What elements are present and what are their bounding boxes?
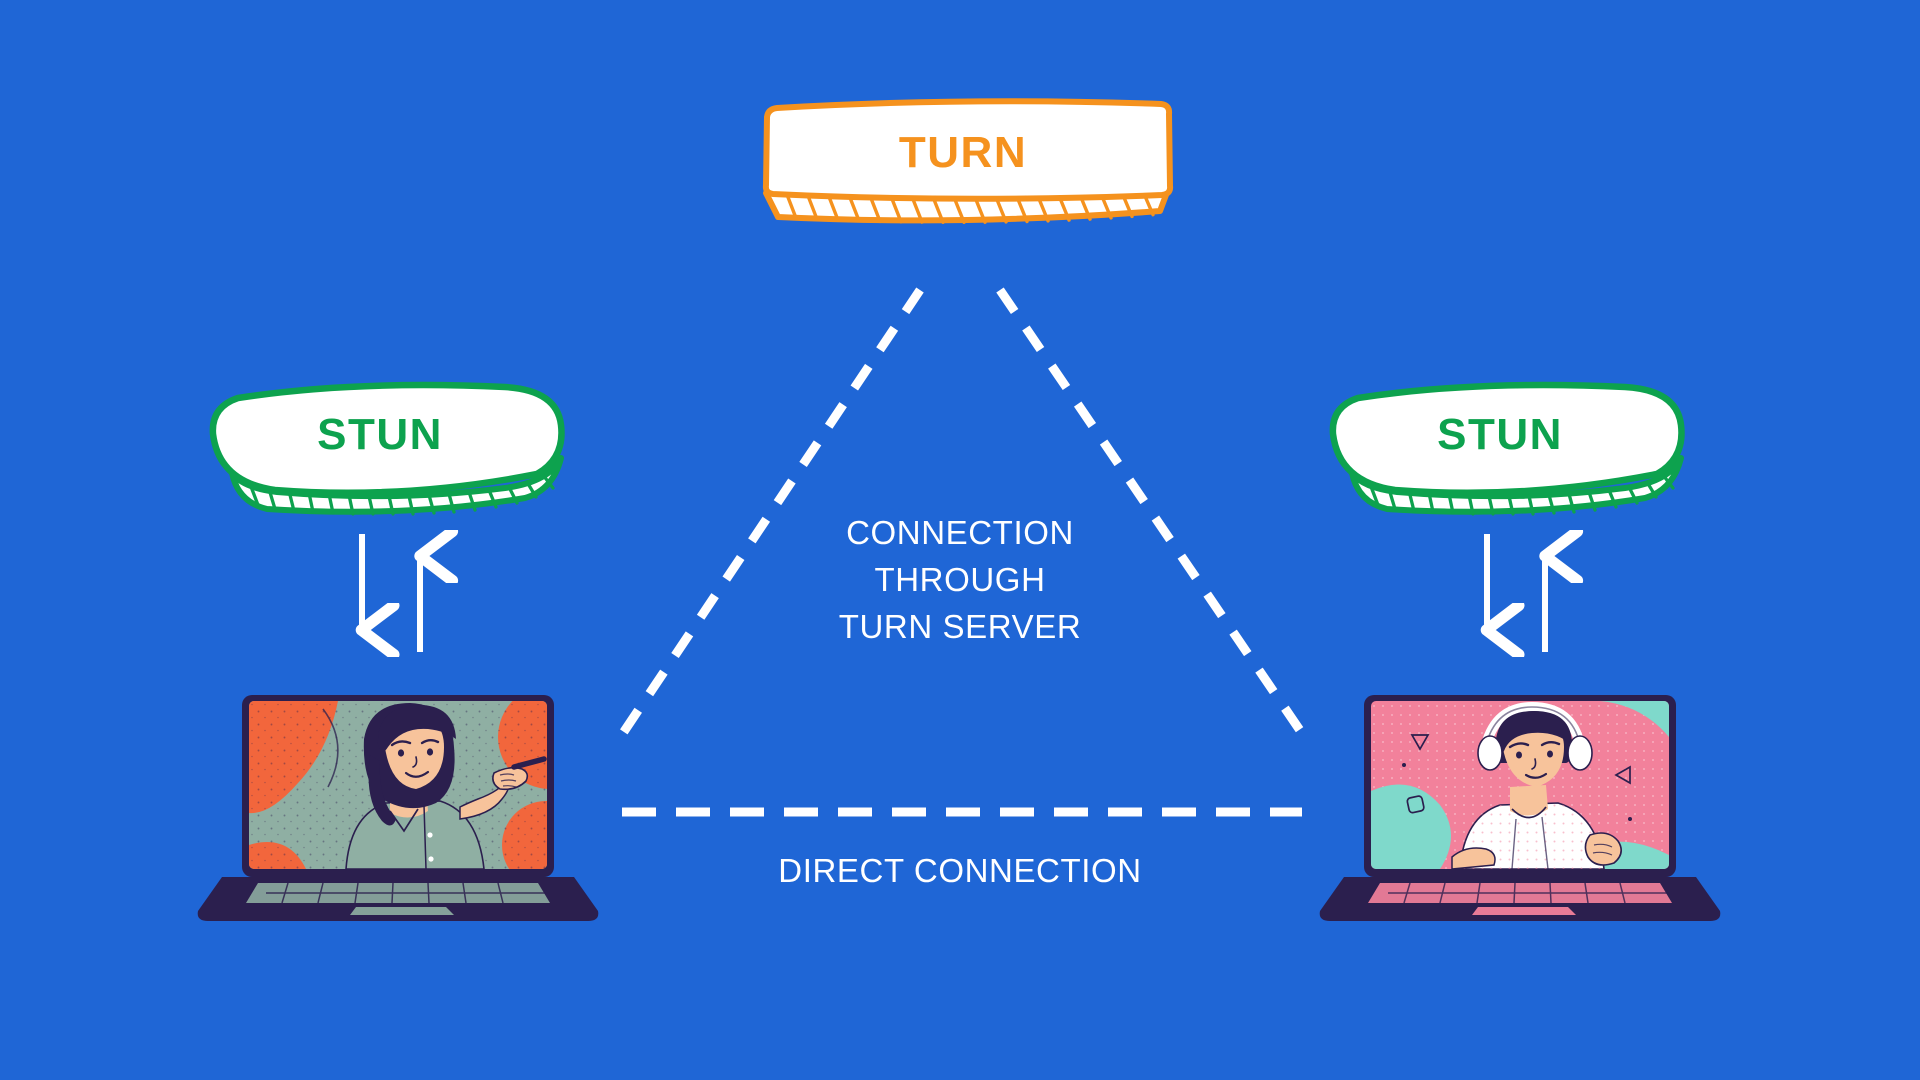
peer-right-laptop[interactable] <box>1300 695 1740 930</box>
left-laptop-illustration <box>178 695 618 930</box>
peer-left-laptop[interactable] <box>178 695 618 930</box>
diagram-canvas: TURN <box>0 0 1920 1080</box>
right-laptop-screen <box>1371 701 1669 869</box>
right-laptop-illustration <box>1300 695 1740 930</box>
node-turn[interactable]: TURN <box>748 95 1178 230</box>
arrows-right <box>1465 530 1585 660</box>
arrows-left <box>340 530 460 660</box>
turn-badge-label: TURN <box>748 128 1178 178</box>
direct-connection-label: DIRECT CONNECTION <box>680 852 1240 890</box>
node-stun-right[interactable]: STUN <box>1325 378 1715 518</box>
stun-left-badge-label: STUN <box>165 410 595 460</box>
node-stun-left[interactable]: STUN <box>205 378 595 518</box>
stun-right-badge-label: STUN <box>1285 410 1715 460</box>
turn-connection-label: CONNECTION THROUGH TURN SERVER <box>680 510 1240 651</box>
